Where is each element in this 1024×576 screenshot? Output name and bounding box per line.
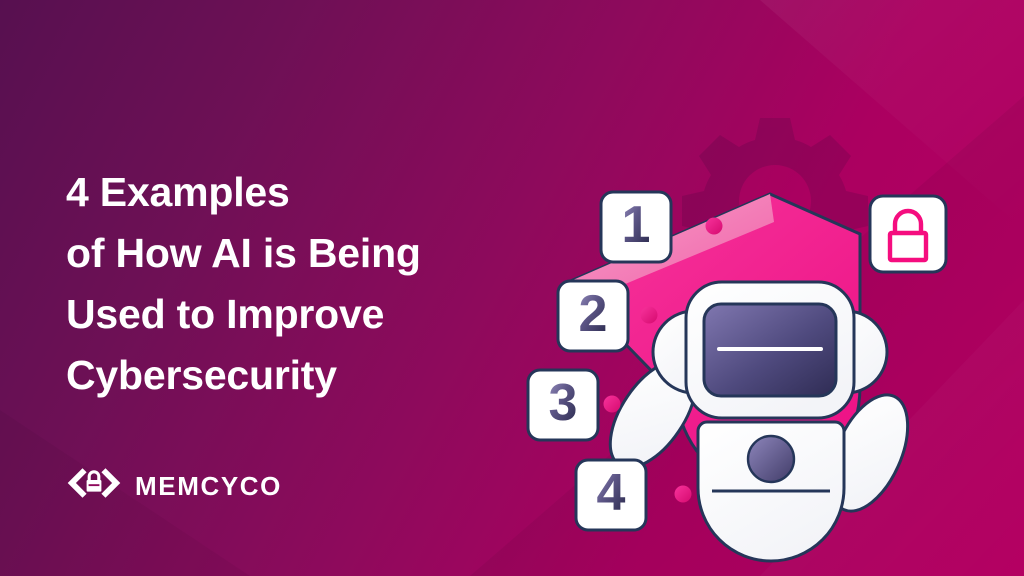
number-badge-3-label: 3: [549, 374, 578, 432]
robot-body-button: [748, 436, 794, 482]
left-content-column: 4 Examples of How AI is Being Used to Im…: [66, 0, 536, 576]
ai-cybersecurity-robot-illustration: 1 2 3 4: [508, 96, 1024, 576]
page-title: 4 Examples of How AI is Being Used to Im…: [66, 162, 421, 406]
number-badge-2-label: 2: [579, 285, 608, 343]
number-badge-2[interactable]: 2: [558, 281, 628, 351]
brand-name-label: MEMCYCO: [135, 473, 282, 499]
number-badge-1[interactable]: 1: [601, 192, 671, 262]
number-badge-4-label: 4: [597, 464, 626, 522]
connector-line-dot: [647, 486, 692, 503]
brand-logo: MEMCYCO: [66, 461, 282, 510]
number-badge-1-label: 1: [622, 196, 651, 254]
number-badge-3[interactable]: 3: [528, 370, 598, 440]
lock-badge[interactable]: [870, 196, 946, 272]
angle-brackets-padlock-icon: [66, 461, 122, 510]
connector-line-dot: [599, 396, 621, 413]
number-badge-4[interactable]: 4: [576, 460, 646, 530]
banner-root: 4 Examples of How AI is Being Used to Im…: [0, 0, 1024, 576]
robot-head: [686, 282, 854, 418]
robot-body: [698, 422, 844, 561]
